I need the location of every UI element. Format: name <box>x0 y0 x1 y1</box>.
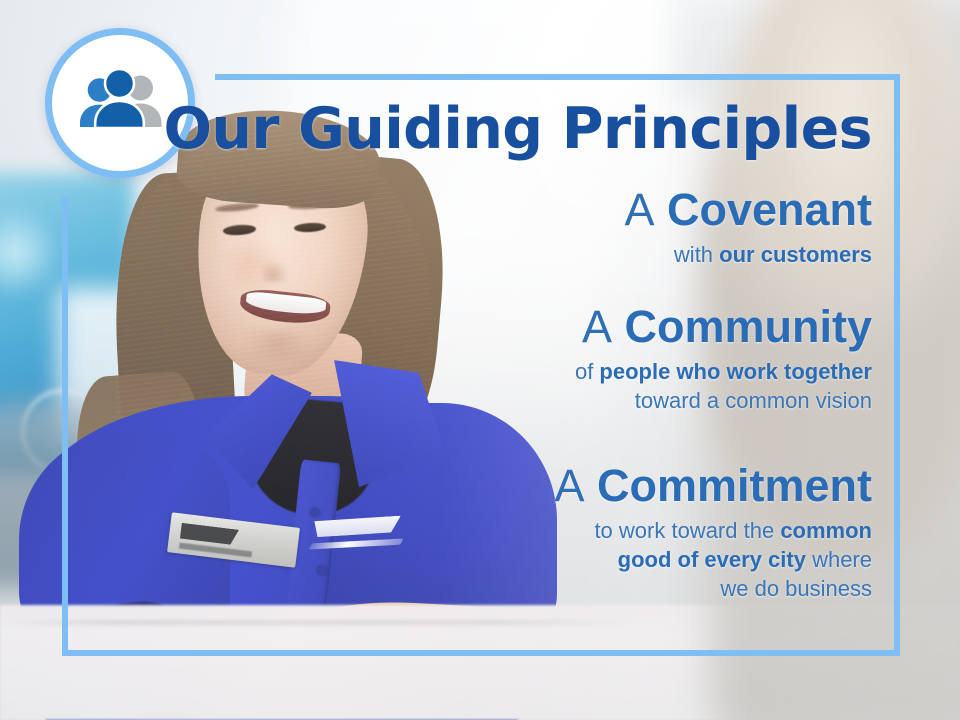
people-group-badge <box>45 28 195 178</box>
desk-edge <box>0 621 634 624</box>
people-group-icon <box>72 66 168 140</box>
shirt-button-upper <box>310 508 320 517</box>
shirt-button-lower <box>317 566 327 575</box>
banner-graphic: Our Guiding Principles A Covenant with o… <box>0 0 960 720</box>
